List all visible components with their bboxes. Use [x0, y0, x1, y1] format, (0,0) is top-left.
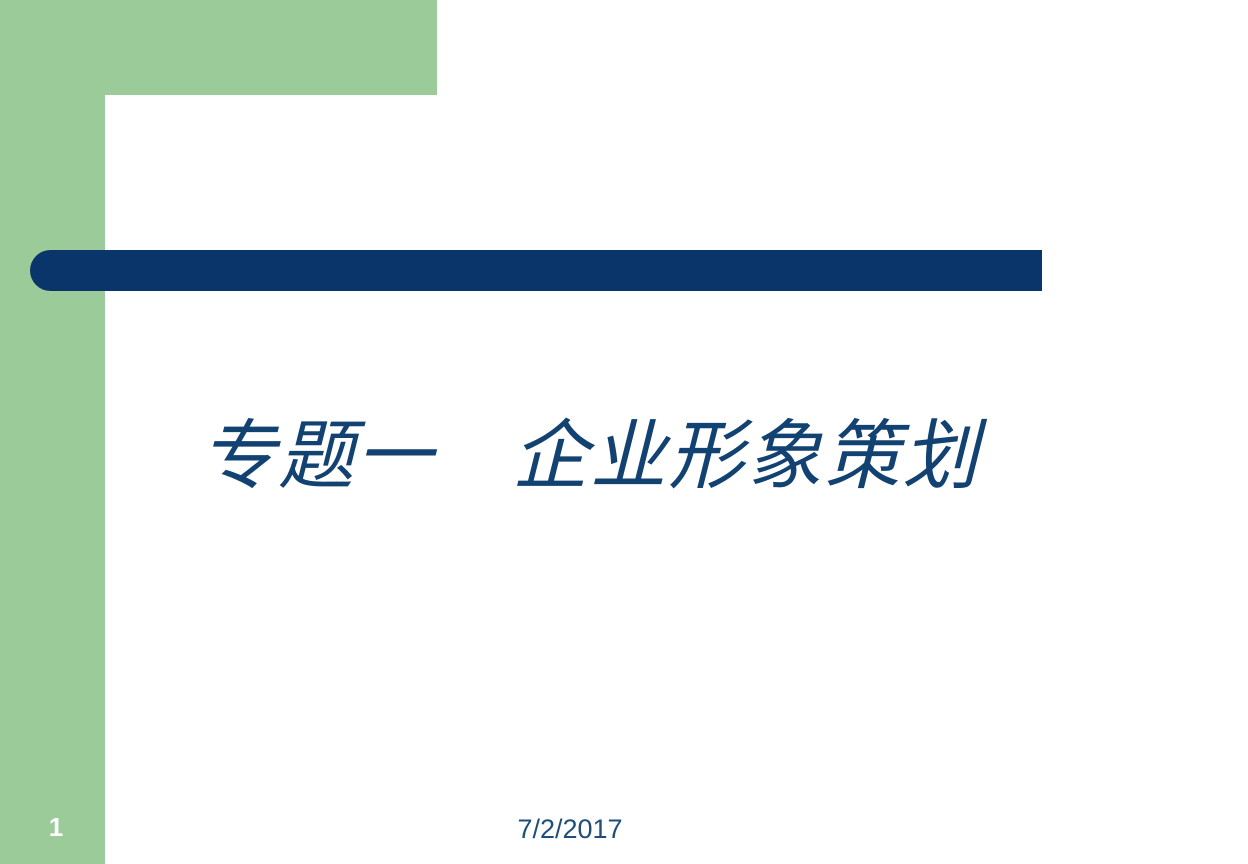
- presentation-slide: 专题一 企业形象策划 1 7/2/2017: [0, 0, 1248, 864]
- green-top-band-decoration: [0, 0, 437, 95]
- slide-date: 7/2/2017: [460, 812, 680, 846]
- slide-page-number: 1: [36, 810, 76, 844]
- navy-pill-bar-decoration: [30, 250, 1042, 291]
- green-side-column-decoration: [0, 0, 105, 864]
- slide-title: 专题一 企业形象策划: [150, 404, 1030, 508]
